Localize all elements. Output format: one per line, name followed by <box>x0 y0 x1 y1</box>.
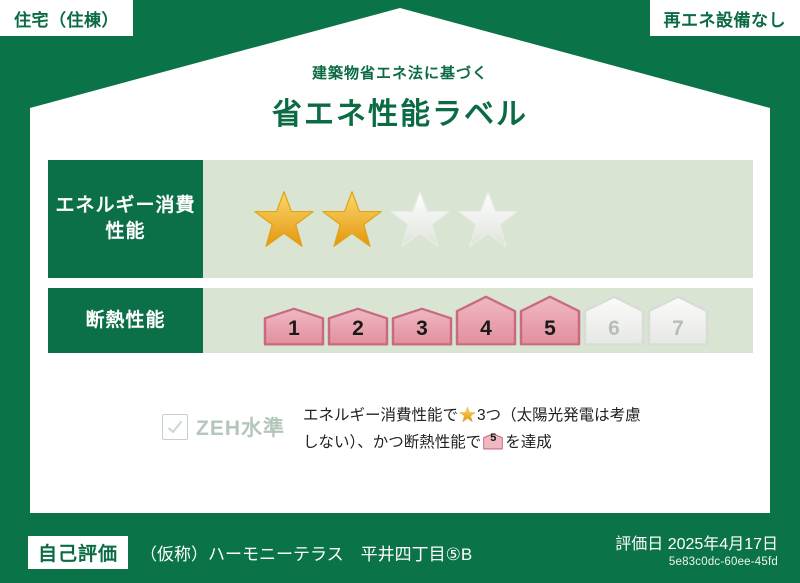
tag-renewable-energy: 再エネ設備なし <box>650 0 800 36</box>
badge-strip: 1234567 <box>253 295 711 347</box>
building-name: （仮称）ハーモニーテラス 平井四丁目⑤B <box>140 540 472 565</box>
insulation-level-6: 6 <box>583 295 645 347</box>
zeh-description-area: ZEH水準 エネルギー消費性能で3つ（太陽光発電は考慮しない）、かつ断熱性能で5… <box>0 402 800 456</box>
energy-star-rating <box>203 160 753 278</box>
insulation-level-7: 7 <box>647 295 709 347</box>
insulation-level-1: 1 <box>263 307 325 347</box>
energy-performance-label: 住宅（住棟） 再エネ設備なし 建築物省エネ法に基づく 省エネ性能ラベル エネルギ… <box>0 0 800 583</box>
footer-right: 評価日 2025年4月17日 5e83c0dc-60ee-45fd <box>615 535 800 569</box>
title-block: 建築物省エネ法に基づく 省エネ性能ラベル <box>0 62 800 133</box>
tag-building-type: 住宅（住棟） <box>0 0 133 36</box>
label-energy-performance: エネルギー消費性能 <box>48 160 203 278</box>
insulation-level-scale: 1234567 <box>203 288 753 353</box>
zeh-standard-chip: ZEH水準 <box>162 412 285 442</box>
zeh-label: ZEH水準 <box>196 412 285 442</box>
label-id: 5e83c0dc-60ee-45fd <box>615 555 778 569</box>
footer-left: 自己評価 （仮称）ハーモニーテラス 平井四丁目⑤B <box>0 536 472 569</box>
star-empty <box>389 189 451 249</box>
star-filled <box>321 189 383 249</box>
page-title: 省エネ性能ラベル <box>0 89 800 133</box>
label-insulation-performance: 断熱性能 <box>48 288 203 353</box>
star-filled <box>253 189 315 249</box>
check-icon <box>162 414 188 440</box>
footer: 自己評価 （仮称）ハーモニーテラス 平井四丁目⑤B 評価日 2025年4月17日… <box>0 521 800 583</box>
insulation-level-2: 2 <box>327 307 389 347</box>
insulation-level-5: 5 <box>519 295 581 347</box>
star-strip <box>253 189 525 249</box>
row-insulation-performance: 断熱性能 1234567 <box>48 288 753 353</box>
insulation-level-3: 3 <box>391 307 453 347</box>
self-evaluation-badge: 自己評価 <box>28 536 128 569</box>
star-empty <box>457 189 519 249</box>
inline-level-badge: 5 <box>483 432 503 449</box>
title-subtitle: 建築物省エネ法に基づく <box>0 62 800 83</box>
inline-star-icon <box>459 406 476 423</box>
insulation-level-4: 4 <box>455 295 517 347</box>
achievement-description: エネルギー消費性能で3つ（太陽光発電は考慮しない）、かつ断熱性能で5を達成 <box>303 402 653 456</box>
row-energy-performance: エネルギー消費性能 <box>48 160 753 278</box>
evaluation-date: 評価日 2025年4月17日 <box>615 535 778 555</box>
